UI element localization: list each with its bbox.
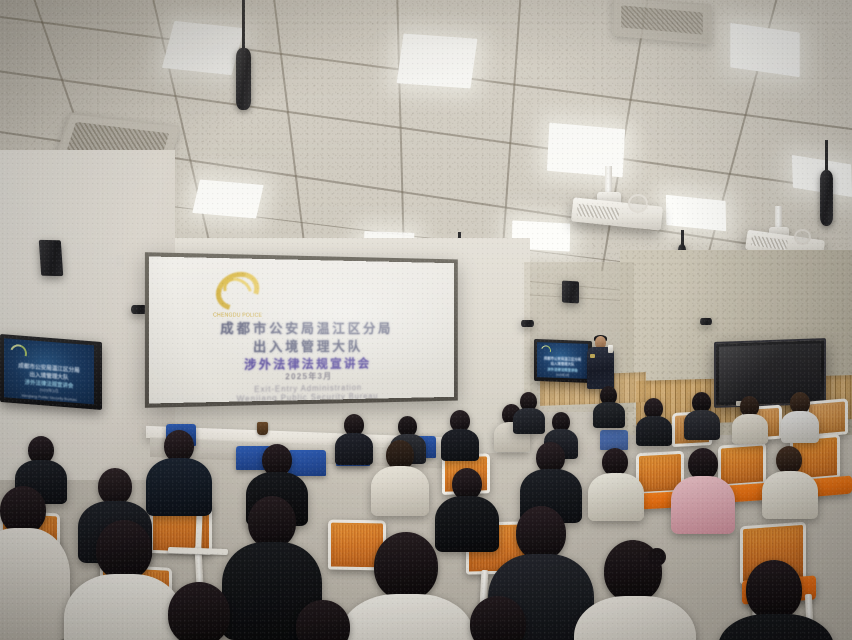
speaker-bracket xyxy=(116,255,124,267)
torso xyxy=(441,429,479,461)
coffee-cup xyxy=(257,422,268,435)
torso xyxy=(64,574,184,640)
torso xyxy=(762,471,818,519)
head xyxy=(296,600,350,640)
torso xyxy=(636,416,672,446)
torso xyxy=(146,458,212,516)
wall-speaker xyxy=(700,318,712,325)
torso xyxy=(593,402,625,428)
officer-badge xyxy=(590,354,595,358)
wall-monitor-podium: 成都市公安局温江区分局 出入境管理大队 涉外法律法规宣讲会 2025年3月 xyxy=(534,339,592,383)
head xyxy=(374,532,438,600)
blue-chair xyxy=(600,430,628,450)
police-officer-presenter xyxy=(586,336,618,394)
torso xyxy=(718,614,834,640)
head xyxy=(602,448,628,476)
head xyxy=(516,506,566,560)
torso xyxy=(371,466,429,516)
monitor-screen: 成都市公安局温江区分局 出入境管理大队 涉外法律法规宣讲会 2025年3月 xyxy=(537,342,588,379)
lecture-hall-photo: CHENGDU POLICE 成都市公安局温江区分局 出入境管理大队 涉外法律法… xyxy=(0,0,852,640)
wall-speaker xyxy=(39,240,64,276)
wall-monitor-left: 成都市公安局温江区分局 出入境管理大队 涉外法律法规宣讲会 2025年3月 We… xyxy=(0,334,102,410)
slide-line-2: 出入境管理大队 xyxy=(149,336,454,357)
torso xyxy=(732,414,768,444)
torso xyxy=(671,476,735,534)
torso xyxy=(340,594,474,640)
torso xyxy=(781,411,819,443)
head xyxy=(0,486,46,534)
head xyxy=(776,446,802,474)
monitor-screen: 成都市公安局温江区分局 出入境管理大队 涉外法律法规宣讲会 2025年3月 We… xyxy=(4,338,94,404)
head xyxy=(248,496,296,548)
torso xyxy=(588,473,644,521)
head xyxy=(168,582,230,640)
projection-screen: CHENGDU POLICE 成都市公安局温江区分局 出入境管理大队 涉外法律法… xyxy=(149,256,454,403)
hair-bun xyxy=(648,548,666,566)
torso xyxy=(513,408,545,434)
torso xyxy=(0,528,70,640)
monitor-date: 2025年3月 xyxy=(537,372,588,378)
wall-speaker xyxy=(562,281,579,304)
head xyxy=(98,468,132,505)
microphone xyxy=(608,345,613,353)
wall-television-right xyxy=(714,338,826,408)
torso xyxy=(684,410,720,440)
blue-chair xyxy=(288,450,326,476)
slide-line-1: 成都市公安局温江区分局 xyxy=(149,317,454,337)
head xyxy=(746,560,802,620)
slide-logo-icon: CHENGDU POLICE xyxy=(215,272,260,309)
torso xyxy=(335,433,373,465)
head xyxy=(96,520,152,580)
wall-speaker xyxy=(521,320,534,327)
torso xyxy=(435,496,499,552)
